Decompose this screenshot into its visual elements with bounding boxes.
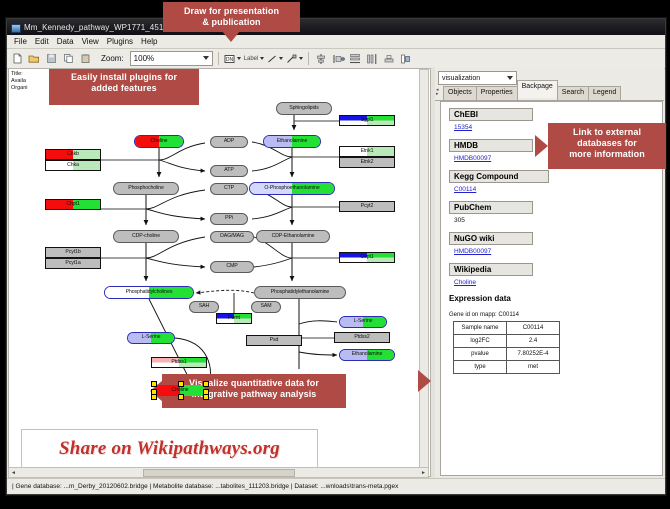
node-label: CMP bbox=[226, 264, 237, 269]
stack-icon[interactable] bbox=[382, 52, 396, 66]
visualization-select-value: visualization bbox=[442, 75, 480, 82]
menu-item-help[interactable]: Help bbox=[137, 37, 161, 46]
db-link-wikipedia[interactable]: Choline bbox=[454, 279, 662, 286]
pathway-node-ethanolamine-top[interactable]: Ethanolamine bbox=[263, 135, 321, 148]
node-label: CTP bbox=[224, 186, 234, 191]
toolbar-separator bbox=[308, 52, 309, 65]
scroll-left-icon[interactable]: ◄ bbox=[9, 470, 18, 476]
callout-share: Share on Wikipathways.org bbox=[21, 429, 318, 469]
selection-handle[interactable] bbox=[203, 394, 209, 400]
node-label: SAH bbox=[199, 304, 209, 309]
expr-key-sample-name: Sample name bbox=[454, 322, 507, 335]
node-label: CDP-choline bbox=[132, 234, 160, 239]
selection-handle[interactable] bbox=[178, 394, 184, 400]
pathvisio-window: Mm_Kennedy_pathway_WP1771_45176.gpml Fil… bbox=[6, 18, 666, 495]
callout-share-text: Share on Wikipathways.org bbox=[59, 438, 280, 460]
pathway-meta: Title: Availa Organi bbox=[11, 71, 28, 92]
selection-handle[interactable] bbox=[151, 381, 157, 387]
table-row: pvalue 7.80252E-4 bbox=[454, 348, 560, 361]
tab-legend[interactable]: Legend bbox=[588, 86, 621, 100]
menu-bar: File Edit Data View Plugins Help bbox=[7, 35, 665, 49]
callout-links-line1: Link to external bbox=[573, 127, 641, 137]
svg-text:DN: DN bbox=[226, 56, 234, 62]
title-bar: Mm_Kennedy_pathway_WP1771_45176.gpml bbox=[7, 19, 665, 35]
tab-backpage[interactable]: Backpage bbox=[517, 80, 558, 98]
callout-expression-arrow-icon bbox=[418, 370, 431, 392]
db-header-pubchem: PubChem bbox=[449, 201, 533, 214]
pathway-node-etnk2[interactable]: Etnk2 bbox=[339, 157, 395, 168]
node-label: ATP bbox=[224, 168, 233, 173]
table-row: type met bbox=[454, 361, 560, 374]
table-row: log2FC 2.4 bbox=[454, 335, 560, 348]
zoom-input[interactable]: 100% bbox=[130, 51, 213, 66]
db-header-wikipedia: Wikipedia bbox=[449, 263, 533, 276]
app-icon bbox=[11, 23, 20, 32]
pathway-node-dag-mag[interactable]: DAG/MAG bbox=[210, 231, 254, 243]
node-label: Chpt1 bbox=[66, 202, 79, 207]
pathway-node-psd[interactable]: Psd bbox=[246, 335, 302, 346]
expression-data-title: Expression data bbox=[449, 294, 662, 303]
expression-table: Sample name C00114 log2FC 2.4 pvalue 7.8… bbox=[453, 321, 560, 374]
node-label: Cept1 bbox=[360, 255, 373, 260]
node-label: Chka bbox=[67, 163, 79, 168]
tab-objects[interactable]: Objects bbox=[443, 86, 477, 100]
line-tool[interactable] bbox=[267, 54, 283, 64]
chevron-down-icon[interactable] bbox=[260, 57, 264, 60]
db-header-hmdb: HMDB bbox=[449, 139, 533, 152]
pathway-node-atp[interactable]: ATP bbox=[210, 165, 248, 177]
callout-draw-line2: & publication bbox=[202, 17, 260, 27]
node-label: O-Phosphoethanolamine bbox=[264, 186, 319, 191]
menu-item-file[interactable]: File bbox=[10, 37, 31, 46]
save-icon[interactable] bbox=[44, 52, 58, 66]
node-label: Phosphatidylethanolamine bbox=[271, 290, 329, 295]
pathway-node-etnk1[interactable]: Etnk1 bbox=[339, 146, 395, 157]
chevron-down-icon[interactable] bbox=[507, 76, 513, 80]
callout-plugins: Easily install plugins for added feature… bbox=[49, 68, 199, 105]
pathway-node-chka[interactable]: Chka bbox=[45, 160, 101, 171]
tool-bar: Zoom: 100% DN Label bbox=[7, 49, 665, 69]
open-folder-icon[interactable] bbox=[27, 52, 41, 66]
pathway-node-cept1[interactable]: Cept1 bbox=[339, 252, 395, 263]
node-label: Etnk2 bbox=[361, 160, 374, 165]
scroll-right-icon[interactable]: ► bbox=[419, 470, 428, 476]
screenshot-root: Mm_Kennedy_pathway_WP1771_45176.gpml Fil… bbox=[0, 0, 670, 509]
scroll-thumb[interactable] bbox=[143, 469, 295, 477]
menu-item-edit[interactable]: Edit bbox=[31, 37, 53, 46]
pathway-node-pcyt2[interactable]: Pcyt2 bbox=[339, 201, 395, 212]
menu-item-data[interactable]: Data bbox=[53, 37, 78, 46]
distribute-horizontal-icon[interactable] bbox=[365, 52, 379, 66]
node-label: Phosphocholine bbox=[128, 186, 164, 191]
pathway-node-phosphatidylethanolamine[interactable]: Phosphatidylethanolamine bbox=[254, 286, 346, 299]
pathway-canvas[interactable]: Title: Availa Organi bbox=[8, 68, 431, 477]
callout-links-line2: databases for bbox=[577, 138, 637, 148]
node-label: Sgpl1 bbox=[361, 118, 374, 123]
node-label: Ptdss2 bbox=[354, 335, 369, 340]
node-label: Choline bbox=[151, 139, 168, 144]
node-label: Pcyt1b bbox=[65, 250, 80, 255]
chevron-down-icon[interactable] bbox=[279, 57, 283, 60]
node-label: CDP-Ethanolamine bbox=[272, 234, 315, 239]
menu-item-view[interactable]: View bbox=[78, 37, 103, 46]
tab-search[interactable]: Search bbox=[557, 86, 589, 100]
distribute-vertical-icon[interactable] bbox=[348, 52, 362, 66]
callout-draw-line1: Draw for presentation bbox=[184, 6, 279, 16]
node-label: Psd bbox=[270, 338, 279, 343]
callout-links: Link to external databases for more info… bbox=[548, 123, 666, 169]
pathway-node-l-serine-right[interactable]: L-Serine bbox=[339, 316, 387, 328]
pathway-node-adp[interactable]: ADP bbox=[210, 136, 248, 148]
pathway-node-cmp[interactable]: CMP bbox=[210, 261, 254, 273]
zoom-label: Zoom: bbox=[101, 54, 124, 63]
chevron-down-icon[interactable] bbox=[299, 57, 303, 60]
node-label: Chkb bbox=[67, 152, 79, 157]
pathway-node-chpt1[interactable]: Chpt1 bbox=[45, 199, 101, 210]
meta-organism: Organi bbox=[11, 85, 28, 92]
selection-handle[interactable] bbox=[178, 381, 184, 387]
node-label: L-Serine bbox=[354, 319, 373, 324]
node-label: Choline bbox=[172, 388, 189, 393]
pathway-node-pcyt1a[interactable]: Pcyt1a bbox=[45, 258, 101, 269]
align-left-icon[interactable] bbox=[331, 52, 345, 66]
toolbar-separator bbox=[218, 52, 219, 65]
paste-icon[interactable] bbox=[78, 52, 92, 66]
node-label: Ethanolamine bbox=[352, 352, 383, 357]
pathway-node-phosphocholine[interactable]: Phosphocholine bbox=[113, 182, 179, 195]
table-row: Sample name C00114 bbox=[454, 322, 560, 335]
pathway-node-sphingolipids[interactable]: Sphingolipids bbox=[276, 102, 332, 115]
callout-links-line3: more information bbox=[569, 149, 645, 159]
meta-title: Title: bbox=[11, 71, 28, 78]
pathway-connectors bbox=[9, 69, 430, 477]
expr-val-type: met bbox=[507, 361, 560, 374]
node-label: PPi bbox=[225, 216, 233, 221]
gene-id-label: Gene id on mapp: C00114 bbox=[449, 312, 662, 318]
pathway-node-ctp[interactable]: CTP bbox=[210, 183, 248, 195]
callout-visualize-line2: integrative pathway analysis bbox=[192, 389, 317, 399]
pathway-node-ppi[interactable]: PPi bbox=[210, 213, 248, 225]
tab-properties[interactable]: Properties bbox=[476, 86, 518, 100]
expr-key-type: type bbox=[454, 361, 507, 374]
tab-scroll-icon[interactable]: ◂▸ bbox=[436, 88, 439, 96]
datanode-tool[interactable]: DN bbox=[224, 54, 241, 64]
expr-val-pvalue: 7.80252E-4 bbox=[507, 348, 560, 361]
node-label: ADP bbox=[224, 139, 234, 144]
status-text: | Gene database: ...m_Derby_20120602.bri… bbox=[12, 483, 398, 490]
expr-val-log2fc: 2.4 bbox=[507, 335, 560, 348]
pathway-node-ptdss1[interactable]: Ptdss1 bbox=[151, 357, 207, 368]
label-tool-text: Label bbox=[244, 56, 259, 62]
status-bar: | Gene database: ...m_Derby_20120602.bri… bbox=[7, 478, 665, 494]
canvas-vertical-scrollbar[interactable] bbox=[419, 69, 429, 476]
node-label: Pemt bbox=[228, 316, 240, 321]
pathway-node-sgpl1[interactable]: Sgpl1 bbox=[339, 115, 395, 126]
expr-val-sample-name: C00114 bbox=[507, 322, 560, 335]
pathway-node-cdp-ethanolamine[interactable]: CDP-Ethanolamine bbox=[256, 230, 330, 243]
pathway-node-pemt[interactable]: Pemt bbox=[216, 313, 252, 324]
label-tool[interactable]: Label bbox=[244, 56, 265, 62]
pathway-node-cdp-choline[interactable]: CDP-choline bbox=[113, 230, 179, 243]
canvas-horizontal-scrollbar[interactable]: ◄ ► bbox=[8, 467, 429, 478]
db-link-nugo[interactable]: HMDB00097 bbox=[454, 248, 662, 255]
callout-plugins-line1: Easily install plugins for bbox=[71, 72, 177, 82]
copy-icon[interactable] bbox=[61, 52, 75, 66]
chevron-down-icon[interactable] bbox=[237, 57, 241, 60]
visualization-select[interactable]: visualization bbox=[438, 71, 517, 85]
node-label: Etnk1 bbox=[361, 149, 374, 154]
db-header-nugo: NuGO wiki bbox=[449, 232, 533, 245]
pathway-node-choline-top[interactable]: Choline bbox=[134, 135, 184, 148]
meta-availability: Availa bbox=[11, 78, 28, 85]
align-center-icon[interactable] bbox=[314, 52, 328, 66]
expr-key-log2fc: log2FC bbox=[454, 335, 507, 348]
pathway-node-ptdss2[interactable]: Ptdss2 bbox=[334, 332, 390, 343]
pathway-node-ethanolamine-right[interactable]: Ethanolamine bbox=[339, 349, 395, 361]
selection-handle[interactable] bbox=[203, 381, 209, 387]
callout-draw-arrow-icon bbox=[222, 31, 240, 42]
db-header-chebi: ChEBI bbox=[449, 108, 533, 121]
pathway-node-l-serine-left[interactable]: L-Serine bbox=[127, 332, 175, 344]
callout-links-arrow-icon bbox=[535, 135, 548, 157]
anchor-tool[interactable] bbox=[286, 54, 303, 64]
db-value-pubchem: 305 bbox=[454, 217, 662, 224]
side-panel-tabs: ◂▸ Objects Properties Backpage Search Le… bbox=[435, 87, 664, 101]
node-label: Sphingolipids bbox=[289, 106, 319, 111]
menu-item-plugins[interactable]: Plugins bbox=[103, 37, 137, 46]
callout-plugins-line2: added features bbox=[91, 83, 156, 93]
node-label: L-Serine bbox=[142, 335, 161, 340]
node-label: DAG/MAG bbox=[220, 234, 244, 239]
node-label: Phosphatidylcholines bbox=[126, 290, 173, 295]
node-label: Pcyt1a bbox=[65, 261, 80, 266]
node-label: Ptdss1 bbox=[171, 360, 186, 365]
node-label: SAM bbox=[261, 304, 272, 309]
zoom-value: 100% bbox=[134, 54, 154, 63]
pathway-node-o-phosphoethanolamine[interactable]: O-Phosphoethanolamine bbox=[249, 182, 335, 195]
pathway-node-sam[interactable]: SAM bbox=[251, 301, 281, 313]
new-file-icon[interactable] bbox=[10, 52, 24, 66]
node-label: Ethanolamine bbox=[277, 139, 308, 144]
db-link-kegg[interactable]: C00114 bbox=[454, 186, 662, 193]
db-header-kegg: Kegg Compound bbox=[449, 170, 549, 183]
callout-draw: Draw for presentation & publication bbox=[163, 2, 300, 32]
order-front-icon[interactable] bbox=[399, 52, 413, 66]
pathway-node-chkb[interactable]: Chkb bbox=[45, 149, 101, 160]
chevron-down-icon[interactable] bbox=[203, 56, 209, 60]
node-label: Pcyt2 bbox=[361, 204, 373, 209]
selection-handle[interactable] bbox=[151, 394, 157, 400]
pathway-node-sah[interactable]: SAH bbox=[189, 301, 219, 313]
pathway-node-pcyt1b[interactable]: Pcyt1b bbox=[45, 247, 101, 258]
expr-key-pvalue: pvalue bbox=[454, 348, 507, 361]
pathway-node-phosphatidylcholines[interactable]: Phosphatidylcholines bbox=[104, 286, 194, 299]
